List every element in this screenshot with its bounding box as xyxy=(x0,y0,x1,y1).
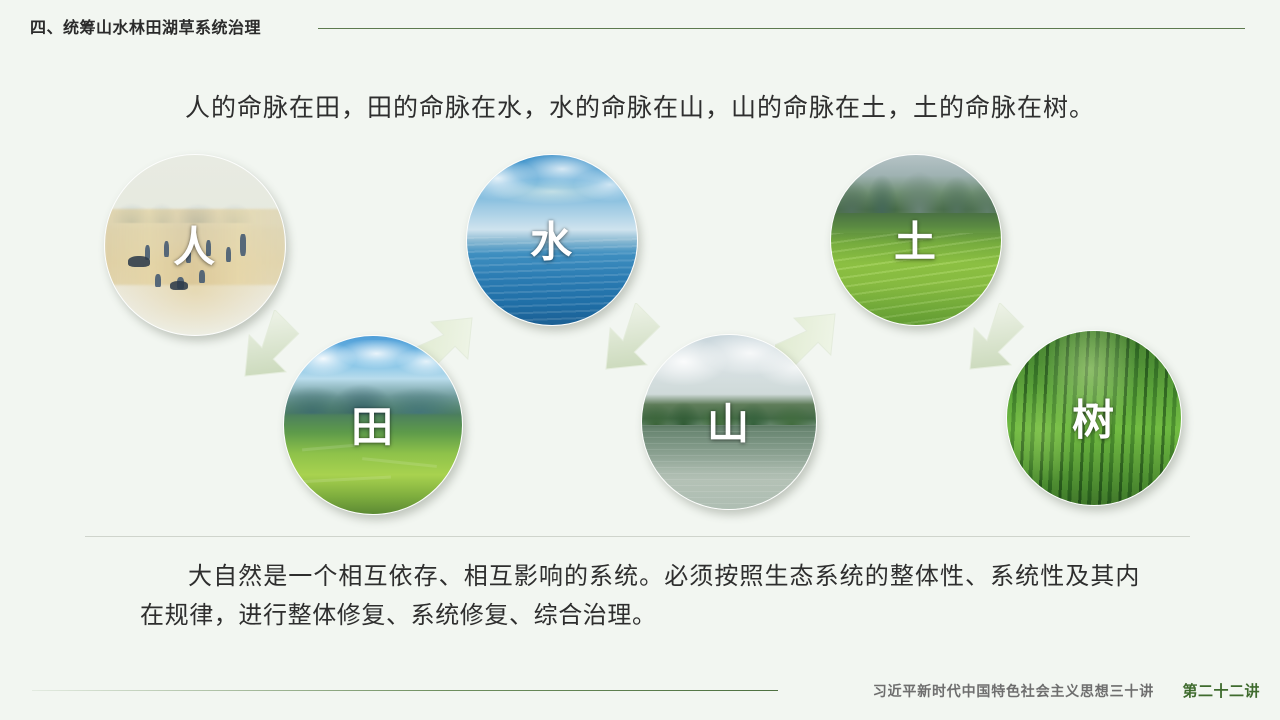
diagram-node-shu[interactable]: 树 xyxy=(1006,330,1182,506)
diagram-node-shan[interactable]: 山 xyxy=(641,334,817,510)
node-glyph-shui: 水 xyxy=(467,208,637,269)
footer-series-title: 习近平新时代中国特色社会主义思想三十讲 xyxy=(873,681,1154,701)
node-glyph-tu: 土 xyxy=(831,208,1001,269)
footer-lecture-number: 第二十二讲 xyxy=(1182,680,1260,701)
diagram-node-ren[interactable]: 人 xyxy=(104,154,286,336)
water-buffalo-2 xyxy=(170,281,188,290)
sky-clouds xyxy=(284,340,462,379)
body-divider-line xyxy=(85,536,1190,537)
bottom-paragraph-text: 大自然是一个相互依存、相互影响的系统。必须按照生态系统的整体性、系统性及其内在规… xyxy=(140,558,1140,636)
diagram-node-tian[interactable]: 田 xyxy=(283,335,463,515)
page-title: 四、统筹山水林田湖草系统治理 xyxy=(30,14,261,38)
node-glyph-shu: 树 xyxy=(1007,386,1181,447)
ecosystem-chain-diagram: 人 田 水 山 土 xyxy=(0,140,1280,525)
diagram-node-shui[interactable]: 水 xyxy=(466,154,638,326)
node-glyph-ren: 人 xyxy=(105,213,285,274)
node-glyph-tian: 田 xyxy=(284,393,462,454)
slide-header: 四、统筹山水林田湖草系统治理 xyxy=(0,0,1280,46)
footer-divider-line xyxy=(32,690,778,691)
header-divider-line xyxy=(318,28,1245,29)
karst-peaks xyxy=(831,155,1001,213)
node-glyph-shan: 山 xyxy=(642,390,816,451)
top-quote-text: 人的命脉在田，田的命脉在水，水的命脉在山，山的命脉在土，土的命脉在树。 xyxy=(0,88,1280,124)
diagram-node-tu[interactable]: 土 xyxy=(830,154,1002,326)
